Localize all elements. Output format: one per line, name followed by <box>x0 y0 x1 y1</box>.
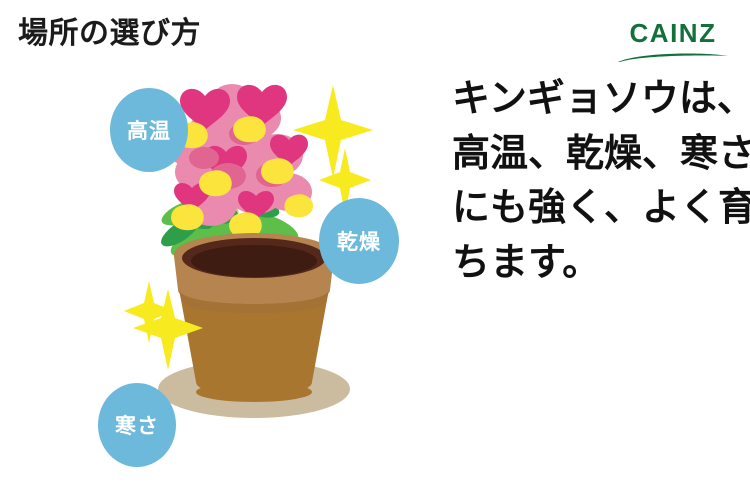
brand-logo: CAINZ <box>612 18 734 60</box>
description-line-1: キンギョソウは、 <box>452 72 742 127</box>
brand-wordmark: CAINZ <box>612 18 734 49</box>
pot-base-edge <box>196 382 312 402</box>
badge-cold[interactable]: 寒さ <box>98 383 176 467</box>
description-text: キンギョソウは、 高温、乾燥、寒さ にも強く、よく育 ちます。 <box>452 72 742 291</box>
badge-high-temperature-label: 高温 <box>127 115 171 145</box>
badge-high-temperature[interactable]: 高温 <box>110 88 188 172</box>
badge-cold-label: 寒さ <box>115 410 159 440</box>
green-swoosh-icon <box>616 51 730 63</box>
badge-dryness-label: 乾燥 <box>337 226 381 256</box>
description-line-3: にも強く、よく育 <box>452 181 742 236</box>
description-line-2: 高温、乾燥、寒さ <box>452 127 742 182</box>
sparkle-top-large <box>293 85 373 178</box>
slide-canvas: 場所の選び方 CAINZ キンギョソウは、 高温、乾燥、寒さ にも強く、よく育 … <box>0 0 750 500</box>
pot-opening-inner <box>191 245 317 277</box>
badge-dryness[interactable]: 乾燥 <box>319 198 399 284</box>
description-line-4: ちます。 <box>452 236 742 291</box>
